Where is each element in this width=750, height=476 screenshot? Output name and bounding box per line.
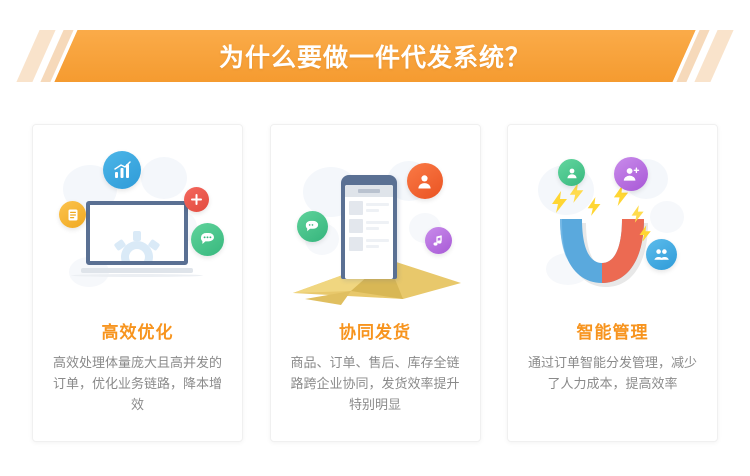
music-note-icon[interactable] [425,227,452,254]
phone-list-item [345,197,393,215]
laptop-graphic [81,201,193,277]
phone-text-line [366,239,389,242]
plus-icon[interactable] [184,187,209,212]
card-description: 高效处理体量庞大且高并发的订单，优化业务链路，降本增效 [50,352,226,415]
phone-list-lines [366,237,389,251]
illustration-phone-on-paper-plane [283,139,468,314]
section-banner: 为什么要做一件代发系统？ [0,30,750,82]
lightning-bolt-icon [550,191,570,213]
phone-list-lines [366,201,389,215]
feature-card-efficiency-optimization[interactable]: 高效优化 高效处理体量庞大且高并发的订单，优化业务链路，降本增效 [32,124,243,442]
phone-list-item [345,215,393,233]
card-title: 智能管理 [577,324,649,341]
user-check-icon[interactable] [407,163,443,199]
phone-text-line [366,209,380,212]
lightning-bolt-icon [630,205,646,223]
add-user-icon[interactable] [614,157,648,191]
card-description: 通过订单智能分发管理，减少了人力成本，提高效率 [525,352,701,394]
lightning-bolt-icon [638,225,653,242]
card-title: 高效优化 [102,324,174,341]
chat-bubble-icon[interactable] [297,211,328,242]
phone-text-line [366,245,380,248]
phone-header-title [358,189,380,193]
bar-chart-icon[interactable] [103,151,141,189]
phone-text-line [366,221,389,224]
laptop-screen [86,201,188,265]
card-description: 商品、订单、售后、库存全链路跨企业协同，发货效率提升特别明显 [287,352,463,415]
phone-text-line [366,203,389,206]
feature-cards-row: 高效优化 高效处理体量庞大且高并发的订单，优化业务链路，降本增效 [32,124,718,442]
phone-text-line [366,227,380,230]
lightning-bolt-icon [586,197,603,216]
phone-list-thumbnail [349,237,363,251]
card-title: 协同发货 [339,324,411,341]
mobile-phone-graphic [341,175,397,279]
user-download-icon[interactable] [558,159,585,186]
phone-screen [345,185,393,279]
phone-list-thumbnail [349,201,363,215]
lightning-bolt-icon [568,183,586,203]
users-group-icon[interactable] [646,239,677,270]
illustration-laptop-with-gear [45,139,230,314]
laptop-shadow [71,274,203,277]
phone-list-item [345,233,393,251]
phone-list-lines [366,219,389,233]
decorative-blob [141,157,187,199]
chat-bubble-icon[interactable] [191,223,224,256]
phone-list-thumbnail [349,219,363,233]
gear-icon [110,227,164,265]
phone-header-bar [345,185,393,197]
illustration-magnet-attracting-users [520,139,705,314]
feature-card-intelligent-management[interactable]: 智能管理 通过订单智能分发管理，减少了人力成本，提高效率 [507,124,718,442]
document-icon[interactable] [59,201,86,228]
banner-title: 为什么要做一件代发系统？ [0,30,750,82]
laptop-base [81,268,193,273]
feature-card-collaborative-shipping[interactable]: 协同发货 商品、订单、售后、库存全链路跨企业协同，发货效率提升特别明显 [270,124,481,442]
